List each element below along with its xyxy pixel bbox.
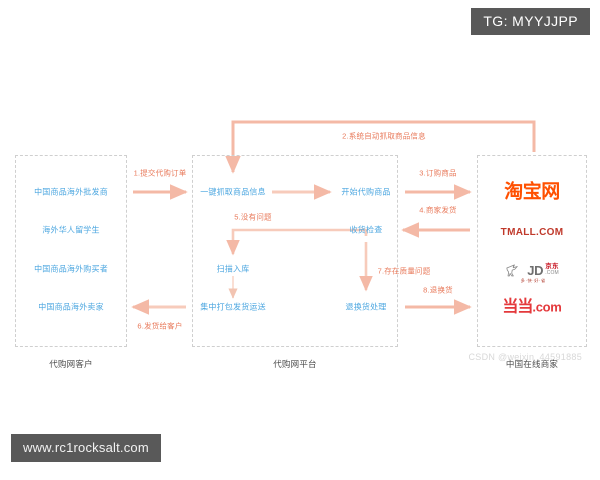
edge-label-submit-order: 1.提交代购订单 [134, 168, 187, 179]
taobao-logo: 淘宝网 [504, 183, 560, 202]
customer-node-seller: 中国商品海外卖家 [38, 302, 104, 313]
customer-node-student: 海外华人留学生 [42, 225, 99, 236]
platform-node-scan: 扫描入库 [217, 264, 250, 275]
jd-logo: JD 京东 .COM 多·快·好·省 [505, 262, 559, 278]
site-url-badge: www.rc1rocksalt.com [11, 434, 161, 462]
jd-com-text: .COM [545, 271, 558, 276]
platform-column-box [192, 155, 398, 347]
edge-label-order-goods: 3.订购商品 [419, 168, 456, 179]
customer-node-wholesaler: 中国商品海外批发商 [34, 187, 108, 198]
jd-slogan: 多·快·好·省 [521, 279, 546, 283]
dangdang-logo: 当当.com dangdang [232, 299, 600, 316]
customer-node-buyer: 中国商品海外购买者 [34, 264, 108, 275]
platform-node-grab: 一键抓取商品信息 [200, 187, 266, 198]
edge-label-merchant-ship: 4.商家发货 [419, 205, 456, 216]
dangdang-chinese-mark: 当当 [502, 297, 532, 316]
platform-node-check: 收货检查 [350, 225, 383, 236]
platform-node-start: 开始代购商品 [341, 187, 390, 198]
edge-label-auto-fetch: 2.系统自动抓取商品信息 [342, 131, 426, 142]
customers-column-box [15, 155, 127, 347]
jd-chinese-mark: 京东 .COM [545, 264, 558, 276]
dangdang-com-text: .com [532, 300, 561, 315]
edge-label-return-exchange: 8.退换货 [423, 285, 453, 296]
flow-diagram: 中国商品海外批发商 海外华人留学生 中国商品海外购买者 中国商品海外卖家 一键抓… [0, 100, 600, 370]
tmall-logo: TMALL.COM [501, 228, 564, 238]
jd-wordmark: JD [527, 264, 543, 277]
caption-customers: 代购网客户 [15, 358, 127, 370]
edge-label-no-problem: 5.没有问题 [234, 212, 271, 223]
edge-label-quality-issue: 7.存在质量问题 [378, 266, 431, 277]
caption-merchants: 中国在线商家 [477, 358, 587, 370]
caption-platform: 代购网平台 [192, 358, 398, 370]
jd-dog-mascot-icon [505, 262, 525, 278]
tg-watermark-badge: TG: MYYJJPP [471, 8, 590, 35]
edge-label-ship-to-customer: 6.发货给客户 [137, 321, 182, 332]
